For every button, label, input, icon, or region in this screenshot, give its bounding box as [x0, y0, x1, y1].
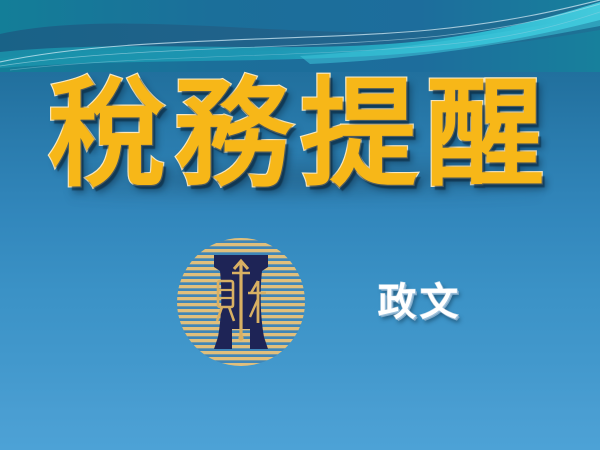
page-title: 稅務提醒	[0, 66, 600, 202]
subtitle: 政文	[330, 278, 510, 326]
flow-wave-banner	[0, 0, 600, 72]
title-slide: 稅務提醒	[0, 0, 600, 450]
finance-department-emblem	[176, 237, 306, 367]
